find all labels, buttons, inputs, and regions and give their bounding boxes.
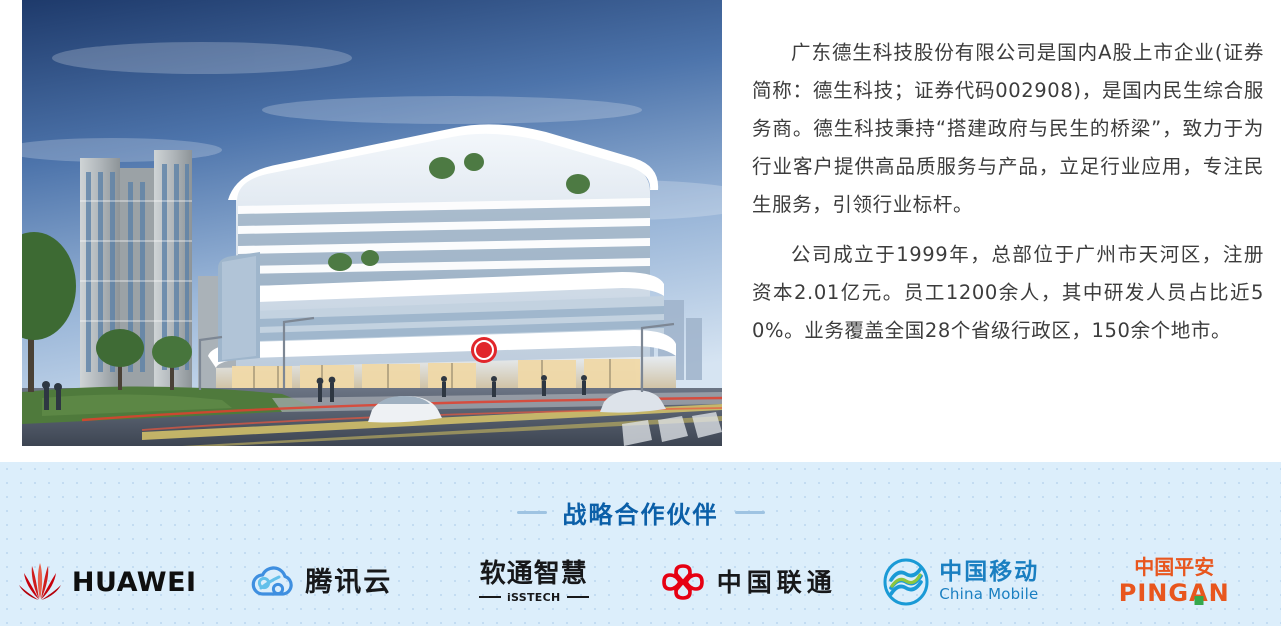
ping-an-sub-wordmark: PINGAN [1119,579,1230,607]
tencent-cloud-icon [248,562,296,602]
title-rule-left-icon [517,511,547,514]
partner-logo-tencent-cloud[interactable]: 腾讯云 [214,550,428,614]
title-rule-right-icon [735,511,765,514]
about-paragraph-2: 公司成立于1999年，总部位于广州市天河区，注册资本2.01亿元。员工1200余… [752,236,1264,350]
partners-title-group: 战略合作伙伴 [0,495,1281,530]
partner-logo-row: HUAWEI 腾讯云 软通智慧 iSSTECH [0,550,1281,614]
partner-logo-ping-an[interactable]: 中国平安 PINGAN [1068,550,1281,614]
isstech-rule-left-icon [479,596,501,598]
isstech-rule-right-icon [567,596,589,598]
huawei-wordmark: HUAWEI [72,569,197,596]
about-paragraph-1: 广东德生科技股份有限公司是国内A股上市企业(证券简称：德生科技；证券代码0029… [752,34,1264,224]
huawei-flower-icon [17,561,63,603]
about-section: 广东德生科技股份有限公司是国内A股上市企业(证券简称：德生科技；证券代码0029… [0,0,1281,462]
building-rendering-illustration [22,0,722,446]
china-unicom-knot-icon [658,560,708,604]
china-mobile-swirl-icon [882,558,930,606]
china-unicom-wordmark: 中国联通 [717,570,837,595]
about-text-column: 广东德生科技股份有限公司是国内A股上市企业(证券简称：德生科技；证券代码0029… [752,34,1264,350]
isstech-sub-group: iSSTECH [479,591,589,604]
strategic-partners-section: 战略合作伙伴 HUAWEI [0,462,1281,626]
china-mobile-sub-wordmark: China Mobile [939,585,1038,603]
company-building-image [22,0,722,446]
partner-logo-huawei[interactable]: HUAWEI [0,550,214,614]
partner-logo-isstech[interactable]: 软通智慧 iSSTECH [427,550,641,614]
china-mobile-wordmark: 中国移动 [939,561,1039,584]
isstech-sub-wordmark: iSSTECH [507,591,561,604]
tencent-cloud-wordmark: 腾讯云 [305,569,392,596]
partner-logo-china-unicom[interactable]: 中国联通 [641,550,855,614]
isstech-wordmark: 软通智慧 [480,561,588,587]
partner-logo-china-mobile[interactable]: 中国移动 China Mobile [854,550,1068,614]
ping-an-wordmark: 中国平安 [1134,557,1214,577]
partners-title: 战略合作伙伴 [563,495,719,530]
